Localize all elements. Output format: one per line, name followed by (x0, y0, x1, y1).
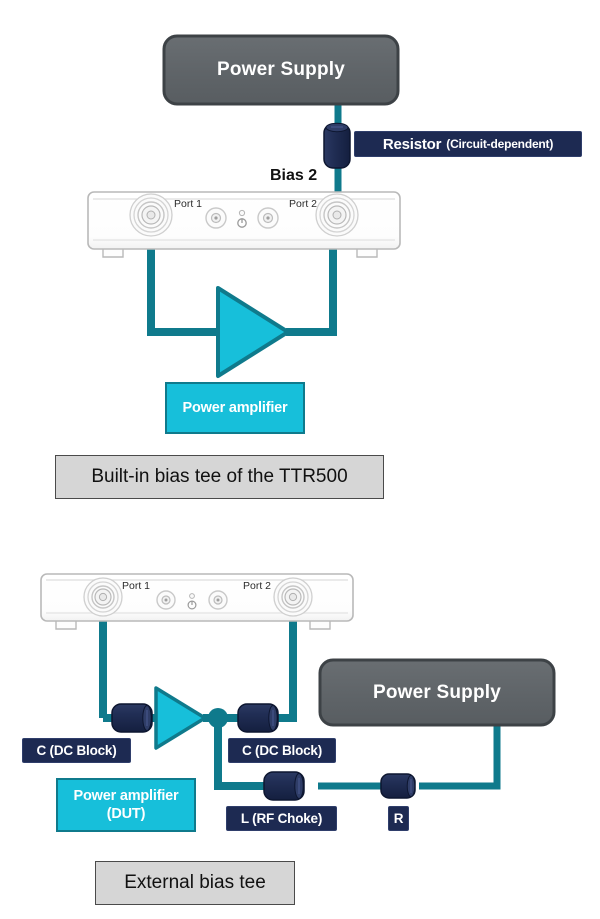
top-caption: Built-in bias tee of the TTR500 (55, 455, 384, 499)
bottom-amplifier-label-line2: (DUT) (107, 805, 145, 823)
label-c-dc-block-output: C (DC Block) (228, 738, 336, 763)
top-power-supply-label: Power Supply (164, 36, 398, 104)
top-aux-connector-left (206, 208, 226, 228)
top-bias-tee-component (324, 123, 350, 168)
component-c-dc-block-output (238, 704, 278, 732)
component-r-resistor (381, 774, 415, 798)
top-amplifier-symbol (218, 288, 288, 376)
label-l-rf-choke: L (RF Choke) (226, 806, 337, 831)
top-amplifier-label-text: Power amplifier (183, 399, 288, 417)
bottom-power-supply-label: Power Supply (320, 660, 554, 725)
component-c-dc-block-input (112, 704, 152, 732)
bottom-junction-node (208, 708, 228, 728)
resistor-callout-main: Resistor (383, 136, 441, 153)
top-port1-connector (130, 194, 172, 236)
top-port2-label: Port 2 (289, 198, 317, 210)
bottom-port1-label: Port 1 (122, 580, 150, 592)
resistor-callout-sub: (Circuit-dependent) (446, 137, 553, 151)
top-port1-label: Port 1 (174, 198, 202, 210)
label-c-dc-block-input: C (DC Block) (22, 738, 131, 763)
bottom-amplifier-symbol (156, 688, 205, 748)
top-port2-connector (316, 194, 358, 236)
top-aux-connector-right (258, 208, 278, 228)
bottom-aux-connector-right (209, 591, 227, 609)
bottom-amplifier-label: Power amplifier (DUT) (56, 778, 196, 832)
top-amplifier-label: Power amplifier (165, 382, 305, 434)
bottom-port2-label: Port 2 (243, 580, 271, 592)
bottom-caption: External bias tee (95, 861, 295, 905)
resistor-callout: Resistor (Circuit-dependent) (354, 131, 582, 157)
component-l-rf-choke (264, 772, 304, 800)
label-r-resistor: R (388, 806, 409, 831)
diagram-canvas: Power Supply Resistor (Circuit-dependent… (0, 0, 600, 919)
bottom-aux-connector-left (157, 591, 175, 609)
wire-resistor-to-ps (419, 720, 497, 786)
top-instrument-ttr500 (88, 192, 400, 257)
bottom-instrument-ttr500 (41, 574, 353, 629)
bias2-label: Bias 2 (270, 167, 317, 185)
bottom-amplifier-label-line1: Power amplifier (74, 787, 179, 805)
bottom-port1-connector (84, 578, 122, 616)
bottom-port2-connector (274, 578, 312, 616)
